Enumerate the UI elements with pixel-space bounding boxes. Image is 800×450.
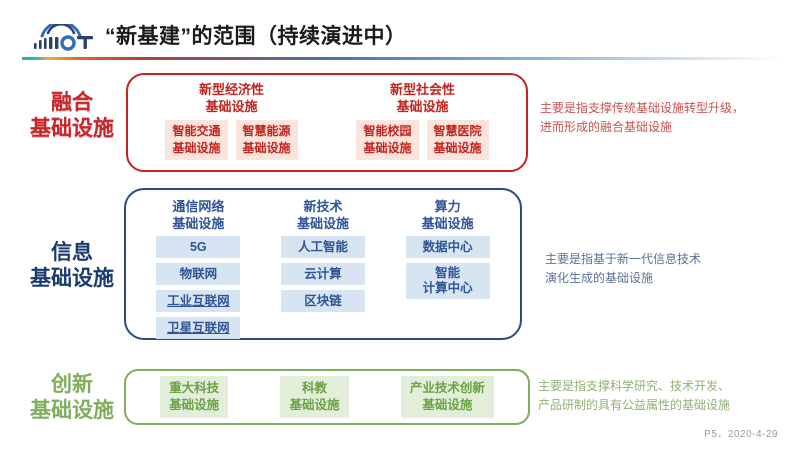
chip-smart-campus[interactable]: 智能校园 基础设施 (356, 120, 418, 160)
chip-line1: 产业技术创新 (410, 380, 485, 397)
chip-line2: 基础设施 (410, 397, 485, 414)
chip-line2: 基础设施 (434, 140, 482, 157)
page-header: “新基建”的范围（持续演进中） (0, 0, 800, 62)
section-label-information-line1: 信息 (20, 240, 124, 266)
section-label-innovation-line1: 创新 (20, 372, 124, 398)
section-note-fused: 主要是指支撑传统基础设施转型升级， 进而形成的融合基础设施 (540, 99, 744, 137)
iiot-logo (28, 24, 100, 54)
chip-line2: 基础设施 (289, 397, 339, 414)
section-label-information: 信息 基础设施 (20, 240, 124, 292)
chip-line1: 重大科技 (169, 380, 219, 397)
fused-box: 新型经济性 基础设施 智能交通 基础设施 智慧能源 基础设施 新型社会性 (126, 73, 528, 172)
info-group-network-title: 通信网络 基础设施 (172, 198, 224, 232)
info-group-newtech: 新技术 基础设施 人工智能 云计算 区块链 (261, 198, 386, 330)
footer-page-number: P5．2020-4-29 (704, 425, 778, 440)
chip-blockchain[interactable]: 区块链 (281, 290, 365, 312)
section-label-fused-line2: 基础设施 (20, 116, 124, 142)
title-line2: 基础设施 (172, 215, 224, 232)
chip-data-center[interactable]: 数据中心 (406, 236, 490, 258)
note-line1: 主要是指支撑传统基础设施转型升级， (540, 99, 744, 118)
note-line2: 进而形成的融合基础设施 (540, 118, 744, 137)
chip-line2: 基础设施 (172, 140, 220, 157)
info-group-computing-power: 算力 基础设施 数据中心 智能 计算中心 (385, 198, 510, 330)
innovation-box: 重大科技 基础设施 科教 基础设施 产业技术创新 基础设施 (124, 369, 530, 425)
info-group-computing-power-title: 算力 基础设施 (422, 198, 474, 232)
chip-major-science-tech[interactable]: 重大科技 基础设施 (160, 376, 228, 418)
chip-smart-hospital[interactable]: 智慧医院 基础设施 (427, 120, 489, 160)
header-divider (22, 57, 782, 60)
chip-satellite-internet[interactable]: 卫星互联网 (156, 317, 240, 339)
section-note-information: 主要是指基于新一代信息技术 演化生成的基础设施 (545, 250, 701, 288)
chip-intelligent-computing-center[interactable]: 智能 计算中心 (406, 263, 490, 299)
chip-smart-transport[interactable]: 智能交通 基础设施 (165, 120, 227, 160)
chip-iot[interactable]: 物联网 (156, 263, 240, 285)
note-line1: 主要是指支撑科学研究、技术开发、 (538, 377, 730, 396)
info-group-network: 通信网络 基础设施 5G 物联网 工业互联网 卫星互联网 (136, 198, 261, 330)
chip-line1: 智能校园 (363, 123, 411, 140)
cloud-arc-icon (28, 24, 100, 54)
title-line2: 基础设施 (199, 98, 264, 115)
section-label-fused-line1: 融合 (20, 90, 124, 116)
chip-smart-energy[interactable]: 智慧能源 基础设施 (236, 120, 298, 160)
chip-line2: 计算中心 (416, 281, 480, 296)
section-label-innovation: 创新 基础设施 (20, 372, 124, 424)
title-line1: 新型社会性 (390, 81, 455, 98)
note-line2: 产品研制的具有公益属性的基础设施 (538, 396, 730, 415)
fused-group-social-title: 新型社会性 基础设施 (390, 81, 455, 115)
section-label-innovation-line2: 基础设施 (20, 398, 124, 424)
chip-line1: 智能交通 (172, 123, 220, 140)
chip-line1: 智能 (416, 266, 480, 281)
chip-science-education[interactable]: 科教 基础设施 (280, 376, 348, 418)
section-label-information-line2: 基础设施 (20, 266, 124, 292)
chip-line2: 基础设施 (363, 140, 411, 157)
chip-industrial-tech-innovation[interactable]: 产业技术创新 基础设施 (401, 376, 494, 418)
chip-industrial-internet[interactable]: 工业互联网 (156, 290, 240, 312)
section-label-fused: 融合 基础设施 (20, 90, 124, 142)
chip-line1: 科教 (289, 380, 339, 397)
information-box: 通信网络 基础设施 5G 物联网 工业互联网 卫星互联网 新技术 基础设施 人工… (124, 188, 522, 340)
fused-group-social: 新型社会性 基础设施 智能校园 基础设施 智慧医院 基础设施 (327, 81, 518, 162)
note-line2: 演化生成的基础设施 (545, 269, 701, 288)
title-line2: 基础设施 (297, 215, 349, 232)
title-line1: 新技术 (297, 198, 349, 215)
title-line1: 通信网络 (172, 198, 224, 215)
chip-ai[interactable]: 人工智能 (281, 236, 365, 258)
note-line1: 主要是指基于新一代信息技术 (545, 250, 701, 269)
page-title: “新基建”的范围（持续演进中） (105, 20, 407, 50)
chip-cloud-computing[interactable]: 云计算 (281, 263, 365, 285)
title-line1: 算力 (422, 198, 474, 215)
chip-line1: 智慧能源 (243, 123, 291, 140)
fused-group-economic-title: 新型经济性 基础设施 (199, 81, 264, 115)
title-line1: 新型经济性 (199, 81, 264, 98)
title-line2: 基础设施 (422, 215, 474, 232)
chip-line2: 基础设施 (169, 397, 219, 414)
fused-group-economic: 新型经济性 基础设施 智能交通 基础设施 智慧能源 基础设施 (136, 81, 327, 162)
chip-line2: 基础设施 (243, 140, 291, 157)
info-group-newtech-title: 新技术 基础设施 (297, 198, 349, 232)
title-line2: 基础设施 (390, 98, 455, 115)
chip-5g[interactable]: 5G (156, 236, 240, 258)
chip-line1: 智慧医院 (434, 123, 482, 140)
section-note-innovation: 主要是指支撑科学研究、技术开发、 产品研制的具有公益属性的基础设施 (538, 377, 730, 415)
